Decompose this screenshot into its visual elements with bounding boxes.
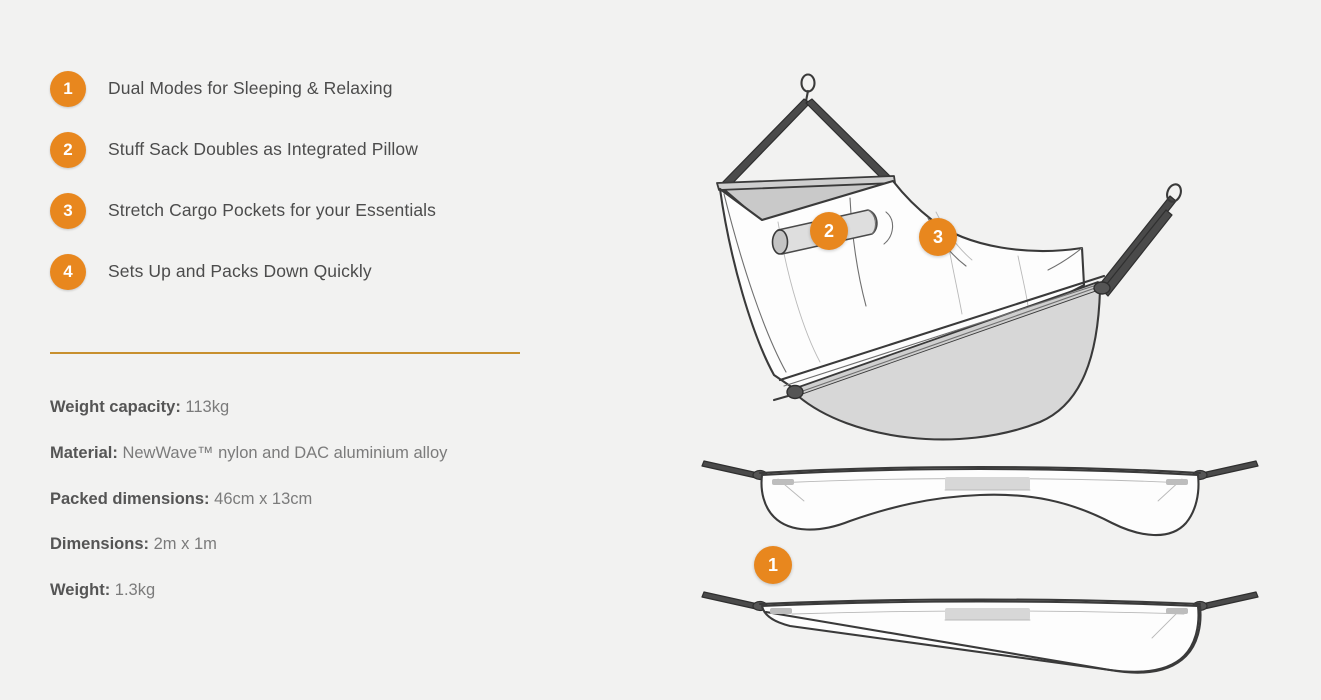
relax-tab-left	[772, 479, 794, 485]
feature-number-badge-3: 3	[50, 193, 86, 229]
relax-strap-right	[1202, 461, 1258, 478]
sleep-center-panel	[945, 608, 1030, 620]
spec-row-packed-dimensions: Packed dimensions: 46cm x 13cm	[50, 490, 570, 510]
feature-item-3: 3 Stretch Cargo Pockets for your Essenti…	[50, 180, 570, 241]
sleep-strap-left	[702, 592, 758, 609]
spec-row-weight-capacity: Weight capacity: 113kg	[50, 398, 570, 418]
sleep-strap-right	[1202, 592, 1258, 609]
feature-item-4: 4 Sets Up and Packs Down Quickly	[50, 241, 570, 302]
left-foot-tail	[774, 396, 788, 400]
spec-row-weight: Weight: 1.3kg	[50, 581, 570, 601]
product-feature-panel: 1 Dual Modes for Sleeping & Relaxing 2 S…	[0, 0, 1321, 700]
feature-list: 1 Dual Modes for Sleeping & Relaxing 2 S…	[50, 58, 570, 302]
callout-badge-pillow: 2	[810, 212, 848, 250]
left-content-column: 1 Dual Modes for Sleeping & Relaxing 2 S…	[50, 58, 570, 627]
illustration-column	[660, 0, 1321, 700]
feature-label-4: Sets Up and Packs Down Quickly	[108, 261, 372, 282]
feature-number-badge-2: 2	[50, 132, 86, 168]
relax-strap-left	[702, 461, 758, 478]
spec-label-dimensions: Dimensions:	[50, 535, 149, 553]
head-strap-right	[806, 99, 894, 186]
relax-center-panel	[945, 477, 1030, 490]
sleeping-mode-illustration	[700, 580, 1260, 685]
feature-label-3: Stretch Cargo Pockets for your Essential…	[108, 200, 436, 221]
foot-strap-lower	[1102, 210, 1172, 296]
spec-row-material: Material: NewWave™ nylon and DAC alumini…	[50, 444, 570, 464]
left-foot-hardware	[787, 386, 803, 399]
relax-tab-right	[1166, 479, 1188, 485]
callout-badge-cargo-pocket: 3	[919, 218, 957, 256]
spec-label-packed-dimensions: Packed dimensions:	[50, 490, 210, 508]
feature-item-1: 1 Dual Modes for Sleeping & Relaxing	[50, 58, 570, 119]
relaxing-mode-illustration	[700, 445, 1260, 550]
spec-value-packed-dimensions: 46cm x 13cm	[214, 490, 312, 508]
sleep-tab-right	[1166, 608, 1188, 614]
spec-value-dimensions: 2m x 1m	[154, 535, 217, 553]
spec-value-weight: 1.3kg	[115, 581, 155, 599]
sleep-tab-left	[770, 608, 792, 614]
feature-number-badge-1: 1	[50, 71, 86, 107]
hammock-perspective-illustration	[700, 70, 1280, 440]
foot-strap-upper	[1100, 196, 1176, 290]
section-divider	[50, 352, 520, 354]
feature-label-1: Dual Modes for Sleeping & Relaxing	[108, 78, 393, 99]
callout-badge-dual-modes: 1	[754, 546, 792, 584]
foot-hardware	[1094, 282, 1110, 294]
carabiner-loop-icon	[802, 75, 815, 92]
spec-label-weight: Weight:	[50, 581, 110, 599]
spec-label-weight-capacity: Weight capacity:	[50, 398, 181, 416]
feature-item-2: 2 Stuff Sack Doubles as Integrated Pillo…	[50, 119, 570, 180]
feature-label-2: Stuff Sack Doubles as Integrated Pillow	[108, 139, 418, 160]
head-strap-left	[719, 99, 810, 191]
spec-value-weight-capacity: 113kg	[185, 398, 229, 416]
spec-row-dimensions: Dimensions: 2m x 1m	[50, 535, 570, 555]
spec-label-material: Material:	[50, 444, 118, 462]
specifications-list: Weight capacity: 113kg Material: NewWave…	[50, 398, 570, 601]
feature-number-badge-4: 4	[50, 254, 86, 290]
spec-value-material: NewWave™ nylon and DAC aluminium alloy	[122, 444, 447, 462]
